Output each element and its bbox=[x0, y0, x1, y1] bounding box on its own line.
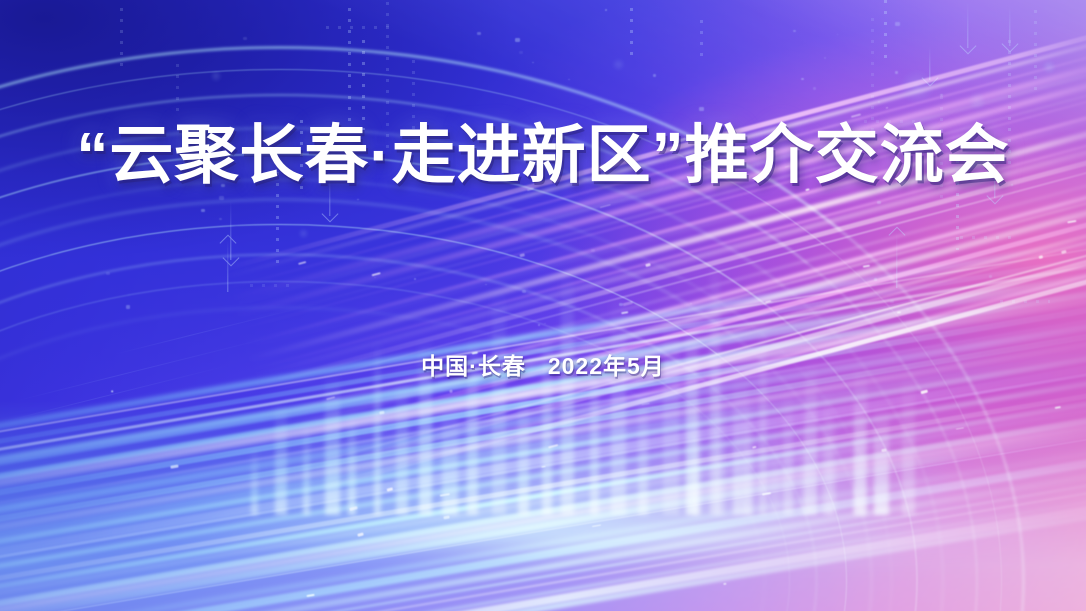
light-fleck bbox=[106, 272, 110, 275]
light-fleck bbox=[895, 71, 898, 74]
streak-sparkle bbox=[519, 253, 525, 257]
poster-title: “云聚长春·走进新区”推介交流会 bbox=[0, 118, 1086, 194]
dot-column bbox=[362, 40, 365, 130]
subtitle-location: 中国·长春 bbox=[421, 353, 526, 379]
glow-blob bbox=[210, 70, 222, 82]
light-fleck bbox=[653, 74, 656, 77]
light-fleck bbox=[890, 300, 894, 303]
light-fleck bbox=[374, 277, 376, 278]
streak-sparkle bbox=[896, 311, 901, 314]
light-fleck bbox=[219, 218, 222, 220]
subtitle-date: 2022年5月 bbox=[548, 353, 665, 379]
dot-row bbox=[250, 284, 294, 287]
streak-sparkle bbox=[298, 261, 307, 265]
light-fleck bbox=[477, 32, 481, 35]
dot-column bbox=[700, 20, 703, 60]
dot-column bbox=[120, 8, 123, 68]
light-fleck bbox=[813, 87, 816, 90]
dot-column bbox=[1034, 10, 1037, 90]
streak-sparkle bbox=[623, 301, 633, 306]
dot-row bbox=[960, 236, 1018, 239]
light-fleck bbox=[532, 62, 534, 63]
poster-canvas: “云聚长春·走进新区”推介交流会 中国·长春2022年5月 bbox=[0, 0, 1086, 611]
glow-blob bbox=[1042, 60, 1056, 74]
light-fleck bbox=[874, 278, 877, 281]
dot-column bbox=[630, 8, 633, 56]
poster-subtitle: 中国·长春2022年5月 bbox=[0, 347, 1086, 381]
streak-sparkle bbox=[886, 107, 889, 109]
light-fleck bbox=[824, 57, 826, 59]
light-fleck bbox=[519, 51, 523, 54]
light-fleck bbox=[544, 323, 546, 324]
light-fleck bbox=[837, 34, 838, 35]
light-fleck bbox=[485, 284, 487, 285]
light-fleck bbox=[619, 303, 623, 306]
streak-sparkle bbox=[620, 311, 627, 314]
dot-row bbox=[326, 26, 396, 29]
light-fleck bbox=[219, 196, 224, 200]
light-fleck bbox=[878, 101, 880, 103]
thin-light-line bbox=[784, 269, 1037, 333]
light-fleck bbox=[538, 324, 540, 326]
light-fleck bbox=[515, 38, 520, 42]
bars-base-glow bbox=[0, 381, 1086, 551]
light-fleck bbox=[699, 107, 704, 111]
light-fleck bbox=[591, 249, 595, 252]
streak-sparkle bbox=[1062, 250, 1067, 254]
dot-row bbox=[1000, 300, 1050, 303]
light-fleck bbox=[989, 275, 992, 278]
streak-sparkle bbox=[765, 300, 771, 303]
light-fleck bbox=[568, 79, 570, 80]
light-fleck bbox=[770, 301, 773, 303]
light-streak-warm bbox=[235, 70, 1086, 317]
light-fleck bbox=[801, 78, 804, 80]
streak-sparkle bbox=[863, 265, 871, 268]
glow-blob bbox=[968, 92, 986, 110]
streak-sparkle bbox=[372, 272, 381, 276]
light-fleck bbox=[940, 94, 943, 96]
dot-column bbox=[348, 8, 351, 128]
dot-column bbox=[176, 64, 179, 114]
light-fleck bbox=[895, 22, 900, 26]
light-fleck bbox=[793, 30, 796, 32]
light-fleck bbox=[522, 290, 526, 293]
light-fleck bbox=[605, 9, 607, 11]
streak-sparkle bbox=[306, 593, 315, 596]
dot-column bbox=[884, 0, 887, 60]
streak-sparkle bbox=[645, 263, 650, 267]
streak-sparkle bbox=[1039, 256, 1044, 259]
streak-sparkle bbox=[600, 204, 611, 208]
streak-sparkle bbox=[1067, 220, 1077, 224]
light-fleck bbox=[126, 305, 130, 309]
light-fleck bbox=[690, 303, 692, 304]
streak-sparkle bbox=[723, 583, 726, 585]
light-fleck bbox=[877, 201, 881, 204]
glow-blob bbox=[612, 58, 625, 71]
glow-blob bbox=[900, 70, 934, 104]
light-fleck bbox=[357, 199, 359, 200]
light-fleck bbox=[906, 308, 909, 310]
light-fleck bbox=[201, 209, 205, 212]
light-fleck bbox=[414, 278, 416, 280]
glow-blob bbox=[298, 228, 309, 239]
light-fleck bbox=[243, 37, 247, 40]
